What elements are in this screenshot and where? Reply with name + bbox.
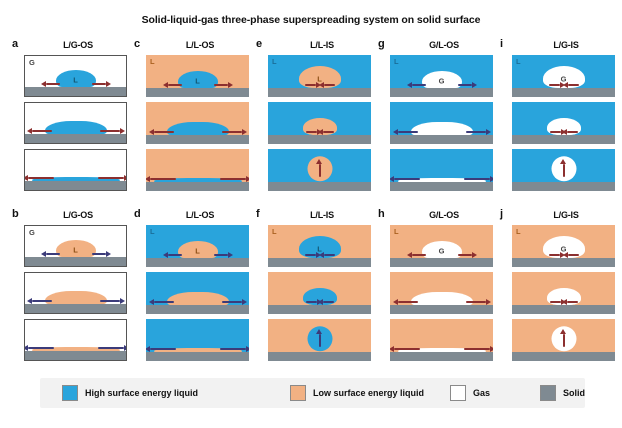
legend-swatch-solid xyxy=(540,385,556,401)
panel-i: iL/G-ISLG xyxy=(498,38,620,201)
droplet-phase-label: L xyxy=(73,76,78,85)
panel-title-f: L/L-IS xyxy=(270,209,374,221)
solid-substrate xyxy=(512,135,615,144)
panel-h: hG/L-OSLG xyxy=(376,208,498,371)
stage-cell: LL xyxy=(268,55,371,97)
legend-label: High surface energy liquid xyxy=(85,388,198,398)
panel-title-b: L/G-OS xyxy=(26,209,130,221)
legend-item: Low surface energy liquid xyxy=(290,385,424,401)
stage-cell xyxy=(390,149,493,191)
stage-cell xyxy=(146,149,249,191)
solid-substrate xyxy=(25,134,126,143)
solid-substrate xyxy=(512,88,615,97)
panel-stages-d: LL xyxy=(146,225,250,366)
solid-substrate xyxy=(390,305,493,314)
panel-grid: aL/G-OSGLcL/L-OSLLeL/L-ISLLgG/L-OSLGiL/G… xyxy=(0,38,622,373)
solid-substrate xyxy=(146,258,249,267)
panel-g: gG/L-OSLG xyxy=(376,38,498,201)
solid-substrate xyxy=(512,258,615,267)
panel-d: dL/L-OSLL xyxy=(132,208,254,371)
stage-cell xyxy=(390,319,493,361)
legend-swatch-gas xyxy=(450,385,466,401)
panel-header-g: gG/L-OS xyxy=(376,38,498,55)
panel-c: cL/L-OSLL xyxy=(132,38,254,201)
medium-phase-label: L xyxy=(394,227,399,236)
panel-header-b: bL/G-OS xyxy=(10,208,132,225)
panel-stages-a: GL xyxy=(24,55,128,196)
legend-swatch-low-energy-liquid xyxy=(290,385,306,401)
droplet-phase-label: G xyxy=(439,247,445,256)
solid-substrate xyxy=(512,305,615,314)
solid-substrate xyxy=(390,88,493,97)
stage-cell xyxy=(268,272,371,314)
solid-substrate xyxy=(268,182,371,191)
panel-header-h: hG/L-OS xyxy=(376,208,498,225)
stage-cell xyxy=(146,272,249,314)
stage-cell xyxy=(24,149,127,191)
solid-substrate xyxy=(25,181,126,190)
stage-cell: LL xyxy=(268,225,371,267)
legend-swatch-high-energy-liquid xyxy=(62,385,78,401)
stage-cell xyxy=(390,102,493,144)
stage-cell xyxy=(268,102,371,144)
droplet-phase-label: L xyxy=(73,246,78,255)
droplet-shape xyxy=(45,291,107,304)
stage-cell: LG xyxy=(512,55,615,97)
panel-title-e: L/L-IS xyxy=(270,39,374,51)
panel-title-i: L/G-IS xyxy=(514,39,618,51)
legend-item: Solid xyxy=(540,385,585,401)
droplet-phase-label: L xyxy=(195,77,200,86)
stage-cell: LG xyxy=(390,55,493,97)
solid-substrate xyxy=(512,352,615,361)
stage-cell xyxy=(24,319,127,361)
panel-stages-h: LG xyxy=(390,225,494,366)
panel-stages-f: LL xyxy=(268,225,372,366)
panel-letter-g: g xyxy=(378,38,385,50)
droplet-shape xyxy=(167,122,229,135)
solid-substrate xyxy=(146,182,249,191)
panel-header-c: cL/L-OS xyxy=(132,38,254,55)
solid-substrate xyxy=(390,258,493,267)
panel-letter-f: f xyxy=(256,208,260,220)
medium-phase-label: L xyxy=(272,57,277,66)
panel-letter-b: b xyxy=(12,208,19,220)
medium-phase-label: L xyxy=(272,227,277,236)
panel-title-d: L/L-OS xyxy=(148,209,252,221)
stage-cell xyxy=(268,149,371,191)
stage-cell: LL xyxy=(146,55,249,97)
droplet-phase-label: L xyxy=(195,247,200,256)
legend-item: Gas xyxy=(450,385,490,401)
figure-title: Solid-liquid-gas three-phase superspread… xyxy=(0,14,622,26)
medium-phase-label: G xyxy=(29,228,35,237)
panel-j: jL/G-ISLG xyxy=(498,208,620,371)
stage-cell xyxy=(390,272,493,314)
droplet-phase-label: G xyxy=(439,77,445,86)
solid-substrate xyxy=(146,305,249,314)
panel-stages-c: LL xyxy=(146,55,250,196)
panel-stages-i: LG xyxy=(512,55,616,196)
stage-cell xyxy=(512,272,615,314)
panel-e: eL/L-ISLL xyxy=(254,38,376,201)
stage-cell: LL xyxy=(146,225,249,267)
solid-substrate xyxy=(268,352,371,361)
solid-substrate xyxy=(25,87,126,96)
medium-phase-label: L xyxy=(150,227,155,236)
stage-cell xyxy=(24,272,127,314)
legend: High surface energy liquidLow surface en… xyxy=(40,378,585,408)
panel-header-j: jL/G-IS xyxy=(498,208,620,225)
medium-phase-label: L xyxy=(516,57,521,66)
solid-substrate xyxy=(390,352,493,361)
medium-phase-label: G xyxy=(29,58,35,67)
panel-b: bL/G-OSGL xyxy=(10,208,132,371)
medium-phase-label: L xyxy=(394,57,399,66)
panel-stages-b: GL xyxy=(24,225,128,366)
panel-letter-i: i xyxy=(500,38,503,50)
solid-substrate xyxy=(25,257,126,266)
panel-letter-a: a xyxy=(12,38,18,50)
panel-f: fL/L-ISLL xyxy=(254,208,376,371)
panel-header-a: aL/G-OS xyxy=(10,38,132,55)
stage-cell xyxy=(24,102,127,144)
panel-title-h: G/L-OS xyxy=(392,209,496,221)
panel-a: aL/G-OSGL xyxy=(10,38,132,201)
stage-cell xyxy=(512,102,615,144)
stage-cell xyxy=(146,102,249,144)
droplet-shape xyxy=(411,122,473,135)
panel-letter-j: j xyxy=(500,208,503,220)
legend-label: Gas xyxy=(473,388,490,398)
stage-cell: LG xyxy=(390,225,493,267)
panel-header-i: iL/G-IS xyxy=(498,38,620,55)
solid-substrate xyxy=(390,135,493,144)
panel-stages-g: LG xyxy=(390,55,494,196)
medium-phase-label: L xyxy=(516,227,521,236)
legend-item: High surface energy liquid xyxy=(62,385,198,401)
medium-phase-label: L xyxy=(150,57,155,66)
droplet-shape xyxy=(411,292,473,305)
droplet-shape xyxy=(45,121,107,134)
panel-letter-d: d xyxy=(134,208,141,220)
panel-title-c: L/L-OS xyxy=(148,39,252,51)
panel-title-a: L/G-OS xyxy=(26,39,130,51)
panel-header-f: fL/L-IS xyxy=(254,208,376,225)
solid-substrate xyxy=(268,305,371,314)
stage-cell xyxy=(146,319,249,361)
solid-substrate xyxy=(512,182,615,191)
solid-substrate xyxy=(25,351,126,360)
droplet-shape xyxy=(167,292,229,305)
panel-stages-j: LG xyxy=(512,225,616,366)
panel-letter-c: c xyxy=(134,38,140,50)
solid-substrate xyxy=(268,88,371,97)
stage-cell: GL xyxy=(24,55,127,97)
stage-cell xyxy=(512,319,615,361)
solid-substrate xyxy=(146,352,249,361)
panel-stages-e: LL xyxy=(268,55,372,196)
stage-cell: LG xyxy=(512,225,615,267)
legend-label: Solid xyxy=(563,388,585,398)
panel-letter-e: e xyxy=(256,38,262,50)
solid-substrate xyxy=(268,135,371,144)
solid-substrate xyxy=(390,182,493,191)
stage-cell: GL xyxy=(24,225,127,267)
panel-header-d: dL/L-OS xyxy=(132,208,254,225)
panel-title-g: G/L-OS xyxy=(392,39,496,51)
panel-header-e: eL/L-IS xyxy=(254,38,376,55)
solid-substrate xyxy=(146,135,249,144)
panel-title-j: L/G-IS xyxy=(514,209,618,221)
solid-substrate xyxy=(25,304,126,313)
solid-substrate xyxy=(268,258,371,267)
panel-letter-h: h xyxy=(378,208,385,220)
stage-cell xyxy=(268,319,371,361)
legend-label: Low surface energy liquid xyxy=(313,388,424,398)
stage-cell xyxy=(512,149,615,191)
solid-substrate xyxy=(146,88,249,97)
